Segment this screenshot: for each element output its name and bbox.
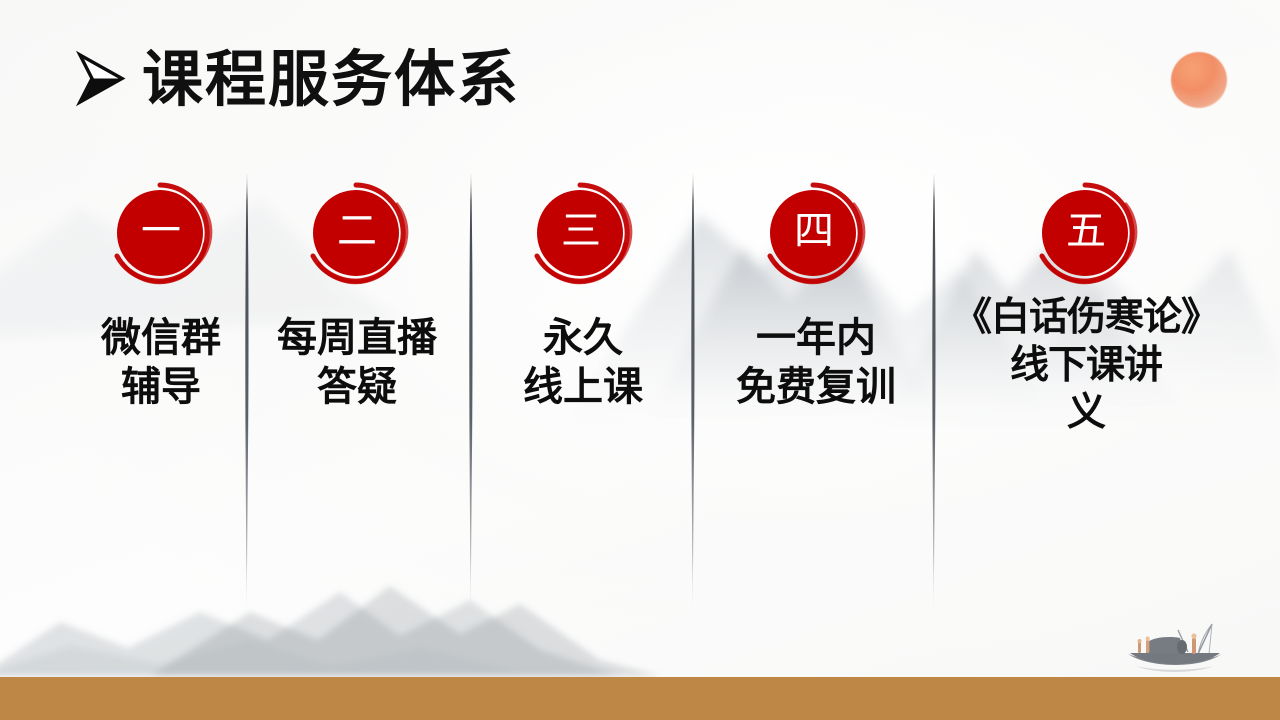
service-item-3[interactable]: 三 永久 线上课 bbox=[490, 176, 676, 412]
seal-numeral: 一 bbox=[105, 176, 217, 288]
seal-numeral: 三 bbox=[525, 176, 637, 288]
sun-icon bbox=[1171, 52, 1227, 108]
seal-numeral: 四 bbox=[758, 176, 870, 288]
seal-badge: 五 bbox=[1030, 176, 1142, 288]
bottom-accent-bar bbox=[0, 677, 1280, 720]
service-columns: 一 微信群 辅导 二 每周直播 答疑 bbox=[0, 176, 1280, 636]
service-item-label: 微信群 辅导 bbox=[70, 314, 252, 412]
service-item-label: 每周直播 答疑 bbox=[266, 314, 448, 412]
service-item-4[interactable]: 四 一年内 免费复训 bbox=[712, 176, 920, 412]
slide-canvas: 课程服务体系 bbox=[0, 0, 1280, 720]
service-item-label: 一年内 免费复训 bbox=[712, 314, 920, 412]
service-item-2[interactable]: 二 每周直播 答疑 bbox=[266, 176, 448, 412]
seal-numeral: 二 bbox=[301, 176, 413, 288]
seal-numeral: 五 bbox=[1030, 176, 1142, 288]
page-title: 课程服务体系 bbox=[72, 48, 520, 112]
service-item-label: 永久 线上课 bbox=[490, 314, 676, 412]
seal-badge: 一 bbox=[105, 176, 217, 288]
page-title-text: 课程服务体系 bbox=[142, 48, 520, 112]
service-item-label: 《白话伤寒论》 线下课讲 义 bbox=[930, 294, 1242, 437]
seal-badge: 二 bbox=[301, 176, 413, 288]
service-item-5[interactable]: 五 《白话伤寒论》 线下课讲 义 bbox=[930, 176, 1242, 437]
seal-badge: 三 bbox=[525, 176, 637, 288]
arrow-bullet-icon bbox=[72, 49, 128, 111]
service-item-1[interactable]: 一 微信群 辅导 bbox=[70, 176, 252, 412]
seal-badge: 四 bbox=[758, 176, 870, 288]
